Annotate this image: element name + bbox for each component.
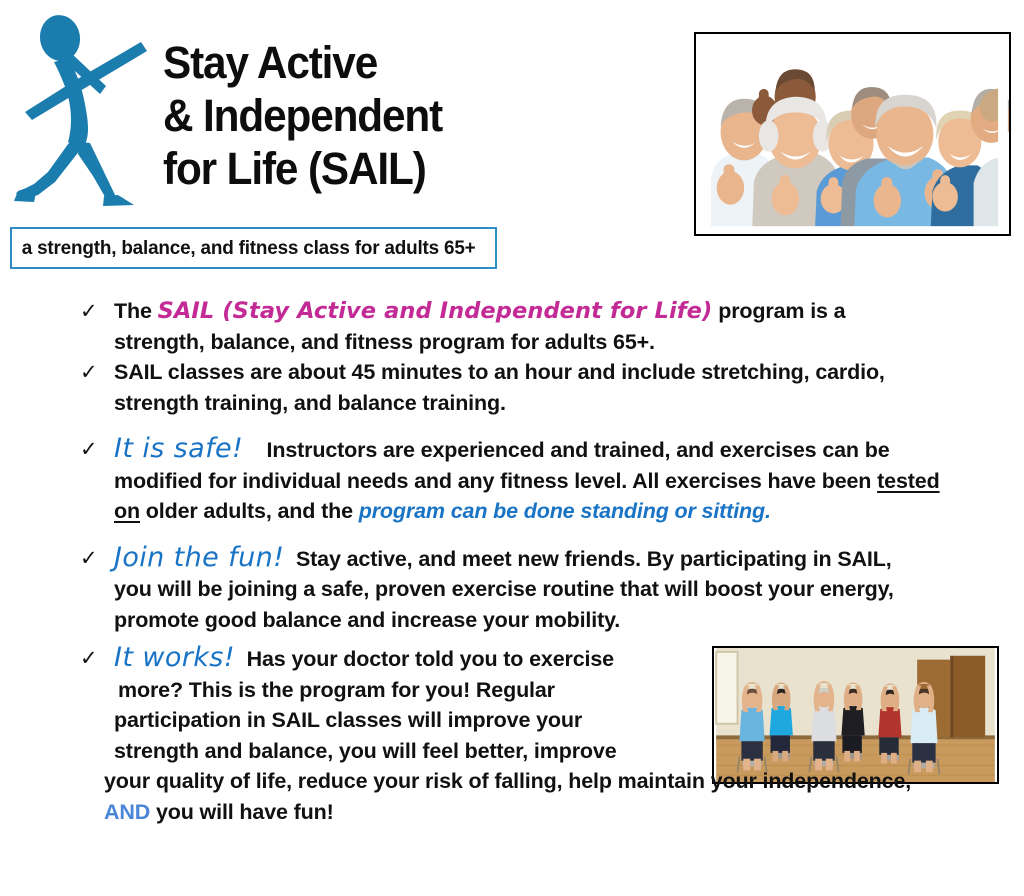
- spacer: [0, 418, 1024, 434]
- bullet-5-line-1: It works! Has your doctor told you to ex…: [114, 643, 1024, 675]
- emphasis-standing-or-sitting: program can be done standing or sitting.: [359, 499, 771, 523]
- bullet-item-program-overview: ✓ The SAIL (Stay Active and Independent …: [0, 296, 1024, 357]
- bullet-3-run-3: older adults, and the: [140, 499, 359, 523]
- photo-seniors-thumbs-up: [694, 32, 1011, 236]
- bullet-5-line-2: more? This is the program for you! Regul…: [114, 675, 1024, 706]
- bullet-1-line-2: strength, balance, and fitness program f…: [114, 327, 1024, 358]
- header-banner: Stay Active & Independent for Life (SAIL…: [0, 0, 1024, 285]
- bullet-4-line-2: you will be joining a safe, proven exerc…: [114, 574, 1024, 605]
- bullet-3-run-2: modified for individual needs and any fi…: [114, 469, 877, 493]
- bullet-5-line-5: your quality of life, reduce your risk o…: [0, 766, 1024, 797]
- checkmark-icon: ✓: [80, 296, 98, 326]
- tagline-box: a strength, balance, and fitness class f…: [10, 227, 497, 269]
- bullet-3-line-1: It is safe! Instructors are experienced …: [114, 434, 1024, 466]
- bullet-5-line-6: AND you will have fun!: [0, 797, 1024, 828]
- underlined-on: on: [114, 499, 140, 523]
- sail-acronym-expansion: SAIL (Stay Active and Independent for Li…: [158, 298, 713, 324]
- bullet-4-run-1: Stay active, and meet new friends. By pa…: [296, 547, 892, 571]
- wordmark-line-1: Stay Active: [163, 36, 539, 89]
- wordmark-line-3: for Life (SAIL): [163, 142, 539, 195]
- bullet-5-run-6: you will have fun!: [150, 800, 334, 824]
- bullet-item-join-the-fun: ✓ Join the fun! Stay active, and meet ne…: [0, 543, 1024, 636]
- bullet-1-text: The SAIL (Stay Active and Independent fo…: [114, 296, 1024, 327]
- bullet-3-line-2: modified for individual needs and any fi…: [114, 466, 1024, 497]
- bullet-3-run-1: Instructors are experienced and trained,…: [267, 438, 890, 462]
- bullet-1-run-3: program is a: [712, 299, 845, 323]
- emphasis-and: AND: [104, 800, 150, 824]
- heading-join-the-fun: Join the fun!: [114, 542, 284, 573]
- bullet-5-line-4: strength and balance, you will feel bett…: [114, 736, 1024, 767]
- wordmark-line-2: & Independent: [163, 89, 539, 142]
- bullet-item-it-works: ✓ It works! Has your doctor told you to …: [0, 643, 1024, 766]
- spacer: [0, 527, 1024, 543]
- sail-stick-figure-logo-icon: [8, 12, 168, 217]
- heading-it-is-safe: It is safe!: [114, 433, 243, 464]
- bullet-1-run-1: The: [114, 299, 158, 323]
- bullet-3-line-3: on older adults, and the program can be …: [114, 496, 1024, 527]
- checkmark-icon: ✓: [80, 357, 98, 387]
- bullet-4-line-1: Join the fun! Stay active, and meet new …: [114, 543, 1024, 575]
- body-content: ✓ The SAIL (Stay Active and Independent …: [0, 296, 1024, 827]
- bullet-5-continuation: your quality of life, reduce your risk o…: [0, 766, 1024, 827]
- bullet-item-it-is-safe: ✓ It is safe! Instructors are experience…: [0, 434, 1024, 527]
- logo-wordmark: Stay Active & Independent for Life (SAIL…: [163, 36, 539, 195]
- bullet-item-class-length: ✓ SAIL classes are about 45 minutes to a…: [0, 357, 1024, 418]
- bullet-2-line-2: strength training, and balance training.: [114, 388, 1024, 419]
- bullet-2-line-1: SAIL classes are about 45 minutes to an …: [114, 357, 1024, 388]
- checkmark-icon: ✓: [80, 434, 98, 464]
- heading-it-works: It works!: [114, 642, 235, 673]
- bullet-4-line-3: promote good balance and increase your m…: [114, 605, 1024, 636]
- checkmark-icon: ✓: [80, 643, 98, 673]
- bullet-5-run-1: Has your doctor told you to exercise: [247, 647, 614, 671]
- bullet-5-line-3: participation in SAIL classes will impro…: [114, 705, 1024, 736]
- checkmark-icon: ✓: [80, 543, 98, 573]
- underlined-tested: tested: [877, 469, 939, 493]
- tagline-text: a strength, balance, and fitness class f…: [12, 237, 476, 260]
